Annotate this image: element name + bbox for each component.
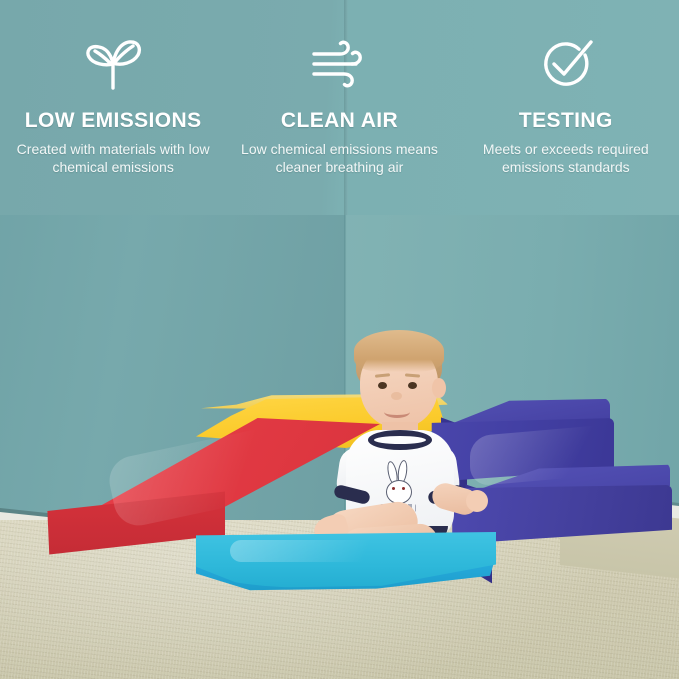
feature-banner: LOW EMISSIONS Created with materials wit…: [0, 0, 679, 215]
child-hair-front: [354, 330, 444, 372]
check-circle-icon: [534, 33, 598, 95]
product-feature-image: LOW EMISSIONS Created with materials wit…: [0, 0, 679, 679]
bunny-eye-right: [402, 487, 405, 490]
bunny-head: [386, 480, 412, 504]
feature-column-testing: TESTING Meets or exceeds required emissi…: [453, 0, 679, 215]
child-nose: [391, 392, 402, 400]
child-eye-right: [408, 382, 417, 389]
feature-description: Meets or exceeds required emissions stan…: [468, 140, 663, 177]
feature-title: CLEAN AIR: [281, 110, 398, 131]
child-eye-left: [378, 382, 387, 389]
feature-columns: LOW EMISSIONS Created with materials wit…: [0, 0, 679, 215]
feature-title: LOW EMISSIONS: [25, 110, 202, 131]
child-ear: [432, 378, 446, 398]
feature-column-clean-air: CLEAN AIR Low chemical emissions means c…: [226, 0, 452, 215]
bunny-eye-left: [392, 487, 395, 490]
child-mouth: [384, 406, 410, 418]
foam-corner-mat-highlight: [230, 540, 410, 562]
feature-column-low-emissions: LOW EMISSIONS Created with materials wit…: [0, 0, 226, 215]
child-figure: [320, 330, 480, 565]
feature-title: TESTING: [519, 110, 613, 131]
sprout-leaf-icon: [81, 33, 145, 95]
feature-description: Created with materials with low chemical…: [6, 140, 221, 177]
child-hand-right: [466, 490, 488, 512]
wind-icon: [307, 33, 371, 95]
child-onesie-collar: [368, 430, 432, 450]
feature-description: Low chemical emissions means cleaner bre…: [239, 140, 439, 177]
